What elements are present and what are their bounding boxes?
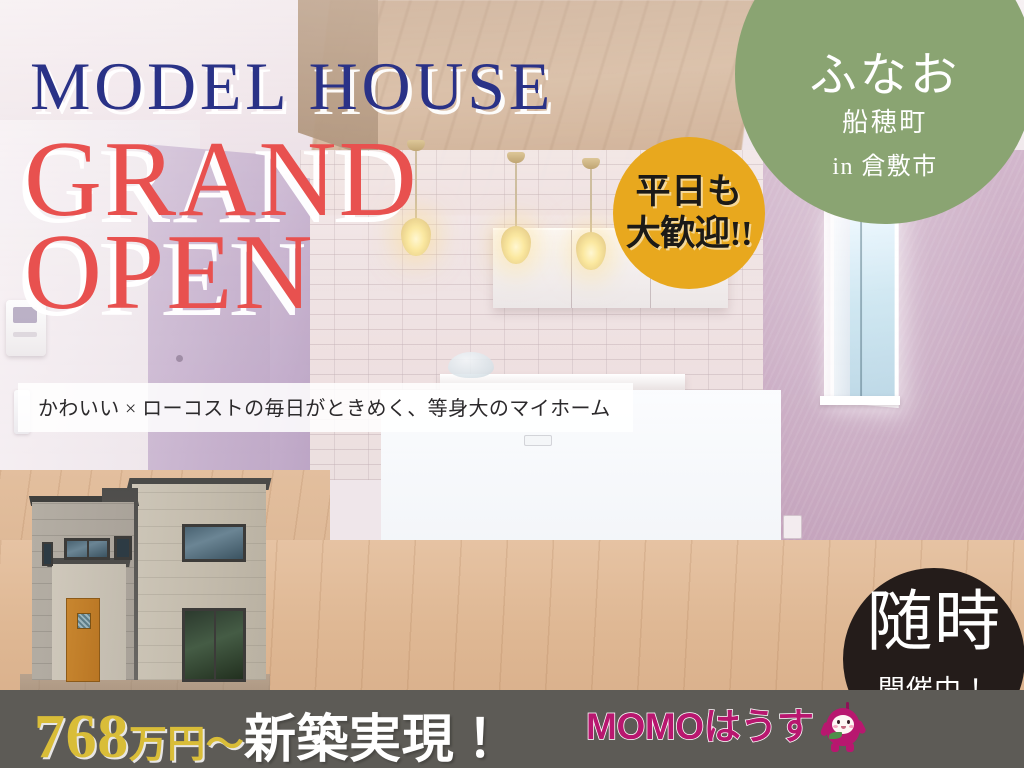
headline-model-house: MODEL HOUSE xyxy=(30,52,554,120)
house-window-small xyxy=(114,536,132,560)
model-house-render xyxy=(14,474,270,690)
price-tail-text: 新築実現！ xyxy=(244,712,507,768)
location-badge-name: ふなお xyxy=(735,36,1024,105)
location-badge-city: in 倉敷市 xyxy=(735,146,1024,181)
window-sill xyxy=(820,396,900,405)
house-window-upper-left xyxy=(64,538,110,560)
location-badge-town: 船穂町 xyxy=(735,102,1024,139)
poster-canvas: MODEL HOUSE GRAND OPEN かわいい × ローコストの毎日がと… xyxy=(0,0,1024,768)
pendant-cord-3 xyxy=(590,158,592,236)
house-front-door xyxy=(66,598,100,682)
weekday-badge-line2: 大歓迎!! xyxy=(613,205,765,256)
price-unit: 万円〜 xyxy=(129,724,244,766)
house-window-upper-right xyxy=(182,524,246,562)
brand-logo[interactable]: MOMOはうす xyxy=(586,700,865,752)
wall-outlet xyxy=(783,515,802,539)
headline-open: OPEN xyxy=(24,222,315,324)
house-window-slit xyxy=(42,542,53,566)
price-bar: 768万円〜新築実現！ xyxy=(0,690,1024,768)
schedule-badge-line1: 随時 xyxy=(843,590,1024,656)
peach-mascot-icon xyxy=(821,700,865,752)
weekday-welcome-badge: 平日も 大歓迎!! xyxy=(613,137,765,289)
pendant-cord-2 xyxy=(515,152,517,230)
sink-basin xyxy=(448,352,494,378)
price-amount: 768 xyxy=(34,703,129,768)
price-line: 768万円〜新築実現！ xyxy=(34,697,507,768)
brand-logo-text: MOMOはうす xyxy=(586,708,814,745)
wall-switch-plate xyxy=(524,435,552,446)
poster-tagline: かわいい × ローコストの毎日がときめく、等身大のマイホーム xyxy=(18,383,633,432)
window-curtain xyxy=(824,208,850,398)
house-window-lower-right xyxy=(182,608,246,682)
door-handle xyxy=(176,355,183,362)
